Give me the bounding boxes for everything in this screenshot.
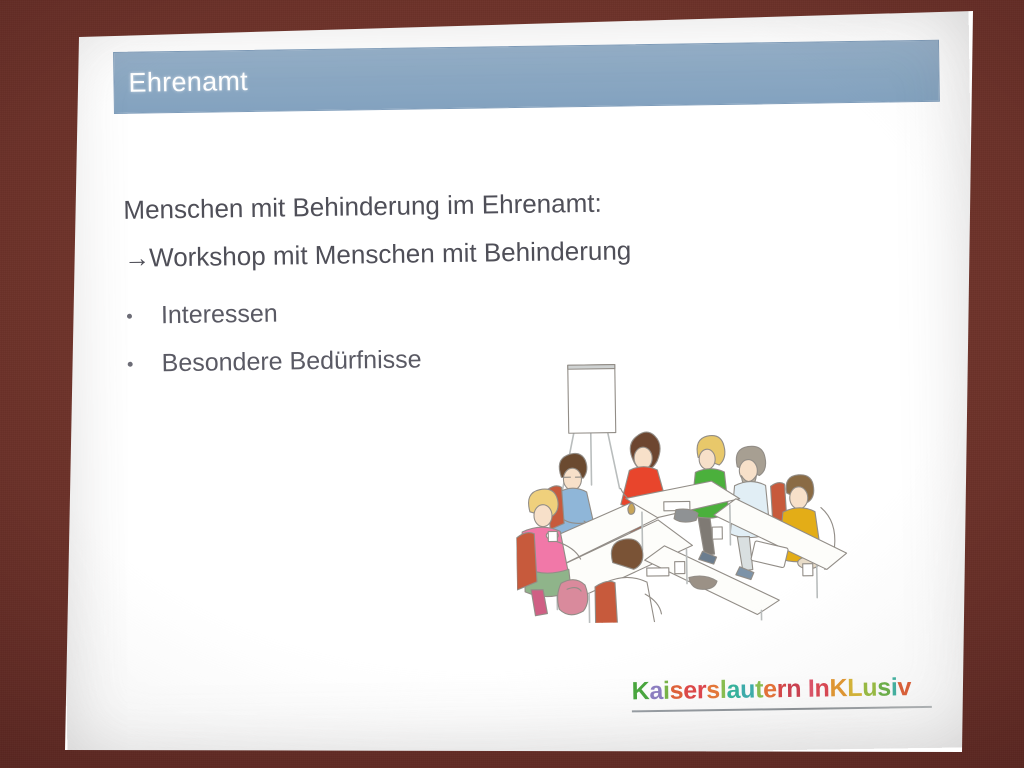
logo-letter: u — [740, 676, 755, 704]
projected-slide: Ehrenamt Menschen mit Behinderung im Ehr… — [62, 10, 974, 754]
body-line-arrow: →Workshop mit Menschen mit Behinderung — [124, 223, 825, 281]
illustration-svg: .ol { stroke:#928d87; stroke-width:1.1; … — [514, 357, 858, 624]
screenshot-stage: Ehrenamt Menschen mit Behinderung im Ehr… — [0, 0, 1024, 768]
bullet-dot-icon — [128, 362, 133, 367]
logo-letter: n — [814, 674, 829, 702]
logo-text: Kaiserslautern InKLusiv — [631, 673, 951, 707]
bullet-dot-icon — [127, 314, 132, 319]
logo-letter: r — [697, 676, 707, 704]
logo-letter: K — [829, 674, 847, 702]
bullet-label: Interessen — [161, 300, 278, 330]
logo-letter: u — [862, 674, 877, 702]
slide-title-bar: Ehrenamt — [113, 40, 940, 114]
body-line-arrow-text: Workshop mit Menschen mit Behinderung — [149, 235, 632, 272]
chair — [595, 581, 618, 624]
backpack-icon — [557, 579, 588, 615]
right-arrow-icon: → — [124, 242, 149, 272]
kaiserslautern-inklusiv-logo: Kaiserslautern InKLusiv — [631, 673, 951, 713]
logo-letter: L — [847, 674, 862, 702]
workshop-roundtable-illustration: .ol { stroke:#928d87; stroke-width:1.1; … — [514, 357, 858, 624]
logo-underline — [632, 706, 932, 712]
logo-letter: s — [706, 676, 720, 704]
bullet-label: Besondere Bedürfnisse — [161, 345, 421, 377]
logo-letter: a — [649, 677, 663, 705]
slide-title: Ehrenamt — [114, 65, 248, 98]
chair — [516, 532, 537, 590]
logo-letter: e — [683, 676, 697, 704]
logo-letter: a — [726, 676, 740, 704]
logo-letter: s — [877, 674, 891, 702]
logo-letter: n — [786, 675, 801, 703]
logo-letter: s — [669, 677, 683, 705]
slide-body: Menschen mit Behinderung im Ehrenamt: →W… — [123, 175, 826, 387]
logo-letter: e — [763, 675, 777, 703]
logo-letter: r — [777, 675, 787, 703]
logo-letter: v — [897, 673, 911, 701]
logo-letter: K — [631, 677, 649, 705]
slide-content-area: Ehrenamt Menschen mit Behinderung im Ehr… — [57, 3, 980, 760]
